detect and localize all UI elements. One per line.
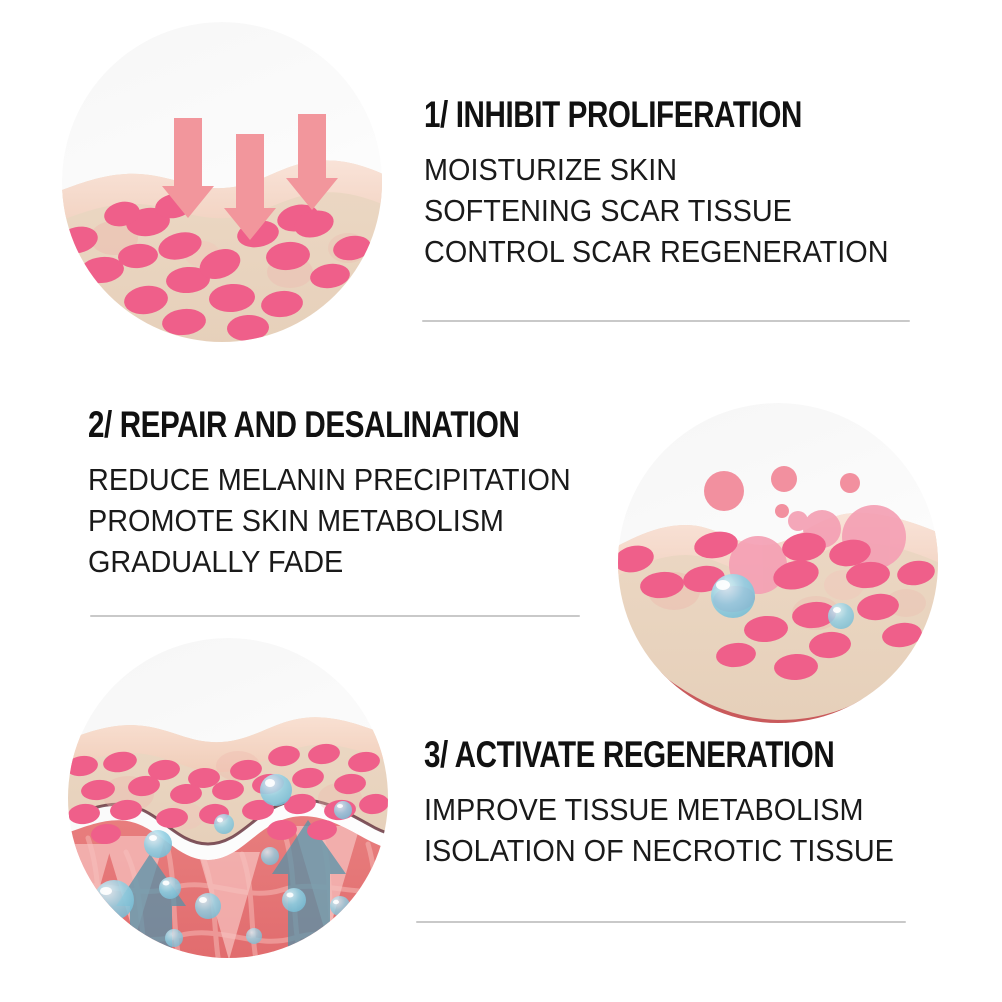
section-1-line-1: MOISTURIZE SKIN: [424, 149, 889, 190]
section-2-line-2: PROMOTE SKIN METABOLISM: [88, 500, 590, 541]
section-heading-2: 2/ REPAIR AND DESALINATION: [88, 406, 519, 443]
section-heading-3: 3/ ACTIVATE REGENERATION: [424, 736, 834, 773]
section-3-line-2: ISOLATION OF NECROTIC TISSUE: [424, 830, 901, 871]
section-heading-1: 1/ INHIBIT PROLIFERATION: [424, 96, 824, 133]
section-1-line-3: CONTROL SCAR REGENERATION: [424, 231, 889, 272]
illustration-inhibit-proliferation: [62, 22, 382, 342]
infographic-page: 1/ INHIBIT PROLIFERATION MOISTURIZE SKIN…: [0, 0, 1002, 1002]
divider-after-section-2: [90, 615, 580, 617]
illustration-activate-regeneration: [68, 638, 388, 958]
section-3-line-1: IMPROVE TISSUE METABOLISM: [424, 789, 901, 830]
illustration-repair-and-desalination: [618, 403, 938, 723]
section-2-line-1: REDUCE MELANIN PRECIPITATION: [88, 459, 590, 500]
text-activate-regeneration: 3/ ACTIVATE REGENERATION IMPROVE TISSUE …: [424, 736, 937, 871]
divider-after-section-3: [416, 921, 906, 923]
section-2-line-3: GRADUALLY FADE: [88, 541, 590, 582]
text-inhibit-proliferation: 1/ INHIBIT PROLIFERATION MOISTURIZE SKIN…: [424, 96, 924, 272]
text-repair-and-desalination: 2/ REPAIR AND DESALINATION REDUCE MELANI…: [88, 406, 627, 582]
section-1-line-2: SOFTENING SCAR TISSUE: [424, 190, 889, 231]
divider-after-section-1: [422, 320, 910, 322]
